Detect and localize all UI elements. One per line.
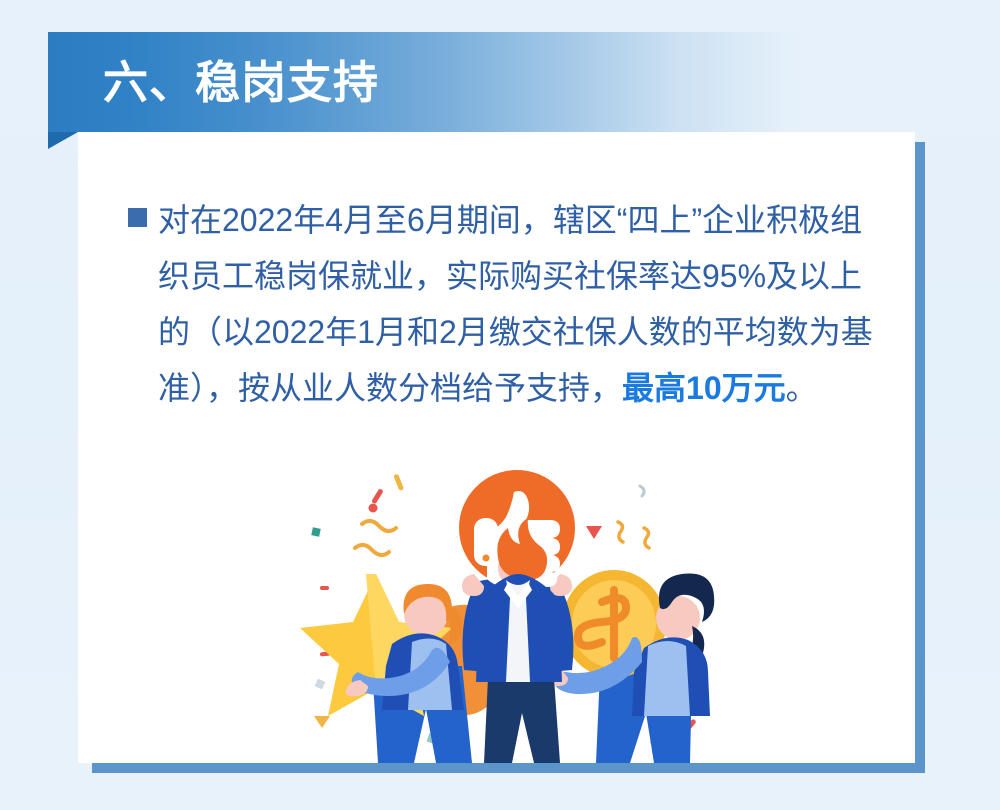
- center-person-with-thumbsup: [459, 470, 575, 763]
- celebration-illustration: [300, 466, 720, 763]
- banner-fold-corner: [48, 132, 78, 149]
- paragraph-highlight: 最高10万元: [622, 370, 786, 406]
- page-title: 六、稳岗支持: [103, 54, 379, 112]
- policy-paragraph-block: 对在2022年4月至6月期间，辖区“四上”企业积极组织员工稳岗保就业，实际购买社…: [128, 192, 888, 416]
- paragraph-text-tail: 。: [786, 370, 818, 406]
- policy-paragraph: 对在2022年4月至6月期间，辖区“四上”企业积极组织员工稳岗保就业，实际购买社…: [158, 192, 888, 416]
- bullet-square-icon: [128, 208, 147, 227]
